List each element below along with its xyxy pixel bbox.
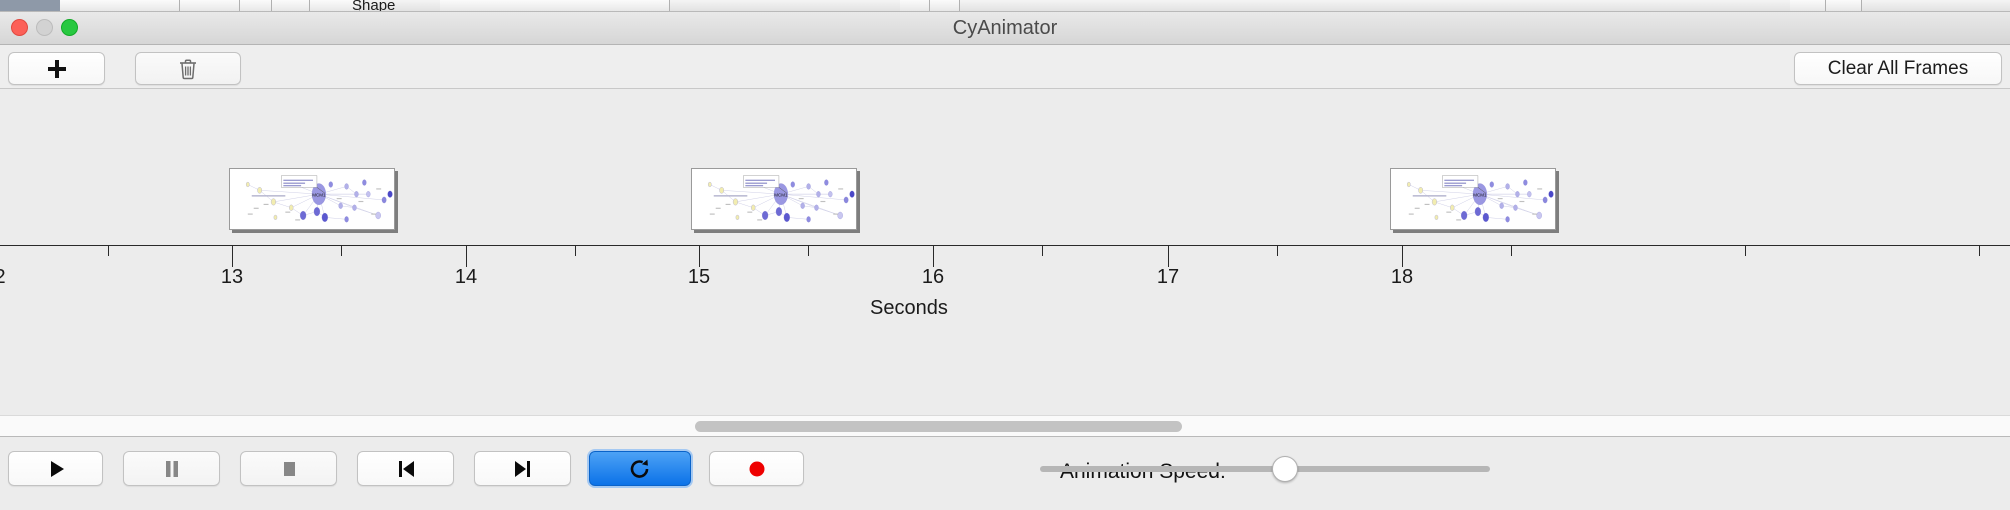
timeline-tick-label: 18 <box>1391 266 1413 289</box>
timeline-track[interactable]: MCM1MCM1MCM12131415161718Seconds <box>0 89 2010 415</box>
svg-text:MCM1: MCM1 <box>312 193 326 198</box>
pause-icon <box>159 457 185 481</box>
background-tab <box>900 0 930 12</box>
animation-speed-slider-track[interactable] <box>1040 466 1490 472</box>
timeline-tick-label: 17 <box>1157 266 1179 289</box>
timeline-tick-label: 15 <box>688 266 710 289</box>
window-titlebar: CyAnimator <box>0 12 2010 45</box>
play-icon <box>43 457 69 481</box>
animation-frame-2[interactable]: MCM1 <box>691 168 857 230</box>
window-title: CyAnimator <box>0 12 2010 45</box>
play-button[interactable] <box>8 451 103 486</box>
background-tab <box>440 0 670 12</box>
background-window-label: Shape <box>352 0 395 12</box>
timeline-tick <box>466 245 467 267</box>
timeline-minor-tick <box>1042 245 1043 256</box>
timeline-minor-tick <box>1745 245 1746 256</box>
timeline-minor-tick <box>108 245 109 256</box>
delete-frame-button[interactable] <box>135 52 241 85</box>
timeline-minor-tick <box>1979 245 1980 256</box>
timeline-tick <box>1168 245 1169 267</box>
background-window-strip: Shape <box>0 0 2010 12</box>
timeline-minor-tick <box>1277 245 1278 256</box>
timeline-tick <box>1402 245 1403 267</box>
trash-icon <box>178 58 198 80</box>
frame-toolbar: Clear All Frames <box>0 45 2010 89</box>
previous-frame-button[interactable] <box>357 451 454 486</box>
stop-icon <box>276 457 302 481</box>
record-button[interactable] <box>709 451 804 486</box>
timeline-minor-tick <box>341 245 342 256</box>
timeline-tick-label: 16 <box>922 266 944 289</box>
background-tab <box>60 0 180 12</box>
stop-button[interactable] <box>240 451 337 486</box>
pause-button[interactable] <box>123 451 220 486</box>
background-tab <box>272 0 310 12</box>
clear-all-frames-label: Clear All Frames <box>1828 58 1968 80</box>
svg-text:MCM1: MCM1 <box>1473 193 1487 198</box>
skip-forward-icon <box>510 457 536 481</box>
animation-speed-slider-thumb[interactable] <box>1272 456 1298 482</box>
timeline-minor-tick <box>808 245 809 256</box>
timeline-minor-tick <box>575 245 576 256</box>
timeline-horizontal-scrollbar[interactable] <box>0 415 2010 437</box>
timeline-tick-label: 2 <box>0 266 6 289</box>
add-frame-button[interactable] <box>8 52 105 85</box>
background-window-sidebar <box>0 0 60 12</box>
timeline-panel[interactable]: MCM1MCM1MCM12131415161718Seconds <box>0 89 2010 415</box>
timeline-ruler-line <box>0 245 2010 246</box>
clear-all-frames-button[interactable]: Clear All Frames <box>1794 52 2002 85</box>
background-tab <box>240 0 272 12</box>
background-tab <box>1826 0 1862 12</box>
animation-frame-1[interactable]: MCM1 <box>229 168 395 230</box>
plus-icon <box>46 58 68 80</box>
timeline-tick <box>933 245 934 267</box>
loop-button[interactable] <box>589 451 691 486</box>
skip-back-icon <box>393 457 419 481</box>
playback-control-bar: Animation Speed: <box>0 438 2010 510</box>
animation-frame-3[interactable]: MCM1 <box>1390 168 1556 230</box>
background-tab <box>1790 0 1826 12</box>
loop-icon <box>627 457 653 481</box>
animation-speed-label: Animation Speed: <box>1060 460 1226 484</box>
timeline-tick-label: 13 <box>221 266 243 289</box>
next-frame-button[interactable] <box>474 451 571 486</box>
background-tab <box>930 0 960 12</box>
record-icon <box>744 457 770 481</box>
timeline-tick-label: 14 <box>455 266 477 289</box>
timeline-axis-title: Seconds <box>870 297 948 320</box>
background-tab <box>180 0 240 12</box>
timeline-tick <box>699 245 700 267</box>
scrollbar-thumb[interactable] <box>695 421 1182 432</box>
timeline-tick <box>232 245 233 267</box>
timeline-minor-tick <box>1511 245 1512 256</box>
svg-text:MCM1: MCM1 <box>774 193 788 198</box>
